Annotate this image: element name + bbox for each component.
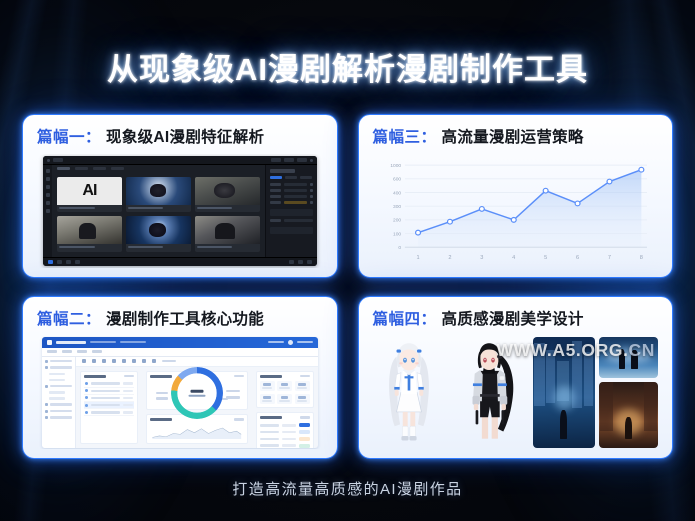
list-item-value bbox=[123, 390, 133, 393]
stat-value bbox=[298, 396, 306, 399]
video-editor-screenshot: AI bbox=[43, 156, 317, 266]
sidebar-item-label bbox=[49, 373, 65, 376]
svg-text:6: 6 bbox=[575, 255, 578, 261]
list-item-label bbox=[91, 404, 120, 407]
editor-toolbar-button bbox=[297, 158, 307, 162]
editor-toolbar-button bbox=[271, 158, 281, 162]
character-white-svg bbox=[373, 337, 445, 449]
list-panel bbox=[80, 371, 138, 445]
character-illustration-black bbox=[451, 337, 527, 449]
thumbnail-image bbox=[195, 216, 260, 244]
stat-label bbox=[279, 400, 289, 402]
properties-tab-strip bbox=[270, 176, 313, 179]
list-item bbox=[84, 388, 134, 395]
sidebar-item bbox=[45, 385, 72, 388]
growth-chart-svg: 1000 600 400 300 200 100 0 bbox=[373, 156, 655, 266]
chart-x-axis-labels: 1 2 3 4 5 6 7 8 bbox=[416, 255, 642, 261]
list-item-selected bbox=[84, 402, 134, 409]
status-badge bbox=[299, 430, 310, 434]
stat-label bbox=[279, 387, 289, 389]
stat-value bbox=[281, 396, 289, 399]
donut-legend-label bbox=[226, 396, 240, 399]
silhouette-figure bbox=[625, 417, 632, 439]
donut-chart bbox=[150, 381, 244, 407]
play-icon bbox=[48, 260, 53, 264]
sidebar-icon bbox=[45, 366, 48, 369]
card-four-header: 篇幅四： 高质感漫剧美学设计 bbox=[371, 307, 661, 329]
media-thumbnail: AI bbox=[57, 177, 122, 212]
panel-title bbox=[84, 375, 106, 378]
card-one-header: 篇幅一： 现象级AI漫剧特征解析 bbox=[35, 125, 325, 147]
stat-cell bbox=[295, 394, 310, 405]
editor-center-pane: AI bbox=[52, 165, 265, 257]
rail-icon-text bbox=[46, 185, 50, 189]
card-chapter-four[interactable]: 篇幅四： 高质感漫剧美学设计 bbox=[358, 296, 674, 460]
property-label bbox=[270, 183, 281, 186]
wall-shape bbox=[644, 382, 657, 431]
svg-text:1: 1 bbox=[416, 255, 419, 261]
search-icon bbox=[142, 359, 146, 363]
card-chapter-one[interactable]: 篇幅一： 现象级AI漫剧特征解析 bbox=[22, 114, 338, 278]
window-dot-icon bbox=[47, 159, 50, 162]
stat-value bbox=[281, 383, 289, 386]
svg-text:400: 400 bbox=[393, 190, 401, 196]
card-three-body: 1000 600 400 300 200 100 0 bbox=[371, 154, 661, 268]
sidebar-item-label bbox=[50, 360, 72, 363]
thumbnail-caption bbox=[195, 205, 260, 213]
panel-header bbox=[260, 375, 310, 378]
sidebar-subitem bbox=[45, 373, 72, 376]
card-two-header: 篇幅二： 漫剧制作工具核心功能 bbox=[35, 307, 325, 329]
card-four-title: 高质感漫剧美学设计 bbox=[442, 307, 584, 329]
footer-caption-container: 打造高流量高质感的AI漫剧作品 bbox=[0, 478, 695, 499]
thumbnail-image bbox=[126, 216, 191, 244]
sidebar-item bbox=[45, 410, 72, 413]
sidebar-item-label bbox=[50, 410, 72, 413]
media-thumbnail bbox=[57, 216, 122, 251]
property-preview-block bbox=[270, 227, 313, 234]
list-item-label bbox=[91, 397, 120, 400]
property-label bbox=[270, 219, 281, 222]
status-badge bbox=[299, 423, 310, 427]
property-value bbox=[284, 183, 307, 186]
panel-header bbox=[84, 375, 134, 378]
stat-label bbox=[262, 387, 272, 389]
editor-tab bbox=[111, 167, 124, 170]
card-one-body: AI bbox=[35, 154, 325, 268]
dashboard-brand-name bbox=[56, 341, 86, 344]
svg-text:200: 200 bbox=[393, 218, 401, 224]
wall-shape bbox=[600, 382, 613, 431]
page-title-container: 从现象级AI漫剧解析漫剧制作工具 bbox=[0, 44, 695, 89]
donut-center-label bbox=[188, 388, 205, 399]
dashboard-content bbox=[76, 357, 318, 449]
rail-icon-media bbox=[46, 169, 50, 173]
rail-icon-transition bbox=[46, 201, 50, 205]
table-cell bbox=[260, 444, 279, 447]
sidebar-item bbox=[45, 360, 72, 363]
silhouette-figure bbox=[631, 350, 638, 369]
trend-sparkline bbox=[150, 424, 244, 440]
stat-value bbox=[298, 383, 306, 386]
split-icon bbox=[75, 260, 80, 264]
dashboard-header-action bbox=[268, 341, 284, 344]
list-item-label bbox=[91, 390, 120, 393]
art-gallery: WWW.A5.ORG.CN bbox=[371, 336, 661, 450]
status-badge bbox=[299, 444, 310, 448]
property-row bbox=[270, 195, 313, 198]
table-cell bbox=[282, 444, 296, 447]
svg-text:7: 7 bbox=[607, 255, 610, 261]
property-value bbox=[284, 201, 307, 204]
svg-text:1000: 1000 bbox=[390, 163, 401, 169]
growth-chart: 1000 600 400 300 200 100 0 bbox=[371, 154, 661, 268]
card-chapter-three[interactable]: 篇幅三： 高流量漫剧运营策略 bbox=[358, 114, 674, 278]
table-row bbox=[260, 429, 310, 436]
stop-icon bbox=[66, 260, 71, 264]
editor-menu-item bbox=[53, 158, 63, 162]
property-toggle-icon bbox=[310, 195, 313, 198]
table-cell bbox=[282, 431, 296, 434]
properties-tab bbox=[270, 176, 282, 179]
sidebar-item-label bbox=[50, 403, 72, 406]
subnav-item bbox=[47, 350, 57, 353]
list-item bbox=[84, 409, 134, 416]
building-shape bbox=[584, 352, 593, 406]
card-one-tag: 篇幅一： bbox=[37, 125, 101, 147]
stat-label bbox=[297, 400, 307, 402]
character-black-svg bbox=[451, 337, 527, 449]
properties-tab bbox=[285, 176, 297, 179]
card-four-tag: 篇幅四： bbox=[373, 307, 437, 329]
toolbar-icon-refresh bbox=[112, 359, 116, 363]
card-three-tag: 篇幅三： bbox=[373, 125, 437, 147]
sidebar-item-label bbox=[50, 385, 72, 388]
properties-panel-title bbox=[270, 169, 296, 173]
toolbar-icon-add bbox=[82, 359, 86, 363]
dashboard-nav-item bbox=[120, 341, 146, 344]
svg-text:0: 0 bbox=[398, 245, 401, 251]
zoom-out-icon bbox=[289, 260, 294, 264]
sidebar-item bbox=[45, 416, 72, 419]
svg-text:5: 5 bbox=[544, 255, 547, 261]
list-bullet-icon bbox=[85, 382, 88, 385]
sidebar-item-label bbox=[49, 397, 65, 400]
dashboard-chart-column bbox=[142, 367, 252, 449]
silhouette-figure bbox=[619, 349, 626, 369]
gallery-image-corridor bbox=[599, 382, 658, 448]
dashboard-body bbox=[42, 357, 318, 449]
subnav-item bbox=[62, 350, 72, 353]
stat-cell bbox=[260, 394, 275, 405]
sidebar-subitem bbox=[45, 391, 72, 394]
sidebar-item-label bbox=[49, 379, 65, 382]
stat-value bbox=[263, 383, 271, 386]
stat-label bbox=[262, 400, 272, 402]
svg-text:4: 4 bbox=[512, 255, 515, 261]
rail-icon-filter bbox=[46, 209, 50, 213]
media-thumbnail bbox=[126, 216, 191, 251]
property-label bbox=[270, 195, 281, 198]
light-halo bbox=[554, 386, 575, 411]
subnav-item bbox=[92, 350, 102, 353]
dashboard-toolbar bbox=[76, 357, 318, 367]
editor-tab bbox=[57, 167, 70, 170]
rail-icon-audio bbox=[46, 177, 50, 181]
sidebar-icon bbox=[45, 410, 48, 413]
table-row bbox=[260, 436, 310, 443]
table-cell bbox=[260, 438, 279, 441]
svg-text:300: 300 bbox=[393, 204, 401, 210]
trend-sparkline-svg bbox=[150, 424, 244, 440]
thumbnail-caption bbox=[126, 244, 191, 252]
list-item-value bbox=[123, 411, 133, 414]
list-bullet-icon bbox=[85, 411, 88, 414]
records-table-panel bbox=[256, 412, 314, 448]
chart-y-axis-labels: 1000 600 400 300 200 100 0 bbox=[390, 163, 401, 251]
donut-legend-label bbox=[226, 390, 240, 393]
table-cell bbox=[282, 424, 296, 427]
table-cell bbox=[282, 438, 296, 441]
sparkline-area bbox=[152, 428, 241, 439]
sidebar-item-label bbox=[50, 416, 72, 419]
dashboard-sidebar bbox=[42, 357, 76, 449]
card-grid: 篇幅一： 现象级AI漫剧特征解析 bbox=[22, 114, 673, 459]
gallery-right-column bbox=[599, 337, 658, 449]
building-shape bbox=[534, 343, 545, 405]
zoom-in-icon bbox=[298, 260, 303, 264]
svg-text:2: 2 bbox=[448, 255, 451, 261]
character-illustration-white bbox=[373, 337, 445, 449]
panel-action bbox=[300, 416, 310, 419]
list-item bbox=[84, 381, 134, 388]
sidebar-item-label bbox=[49, 391, 65, 394]
thumbnail-caption bbox=[195, 244, 260, 252]
stat-cell bbox=[260, 381, 275, 392]
svg-text:100: 100 bbox=[393, 231, 401, 237]
properties-tab bbox=[300, 176, 312, 179]
property-row bbox=[270, 183, 313, 186]
footer-caption: 打造高流量高质感的AI漫剧作品 bbox=[232, 481, 462, 498]
status-badge bbox=[299, 437, 310, 441]
property-row bbox=[270, 219, 313, 222]
card-two-title: 漫剧制作工具核心功能 bbox=[106, 307, 264, 329]
table-row bbox=[260, 422, 310, 429]
sidebar-icon bbox=[45, 385, 48, 388]
list-item-label bbox=[91, 411, 120, 414]
editor-toolbar-button bbox=[284, 158, 294, 162]
toolbar-label bbox=[162, 360, 176, 363]
property-row bbox=[270, 189, 313, 192]
card-one-title: 现象级AI漫剧特征解析 bbox=[106, 125, 264, 147]
media-thumbnail bbox=[195, 216, 260, 251]
pause-icon bbox=[57, 260, 62, 264]
thumbnail-image: AI bbox=[57, 177, 122, 205]
donut-legend-label bbox=[156, 392, 168, 395]
editor-tab bbox=[93, 167, 106, 170]
list-bullet-icon bbox=[85, 396, 88, 399]
donut-center-caption bbox=[188, 395, 205, 398]
media-thumbnail-grid: AI bbox=[52, 173, 265, 257]
table-row bbox=[260, 442, 310, 448]
panel-action bbox=[124, 375, 134, 378]
panel-title bbox=[150, 418, 172, 421]
thumbnail-ai-label: AI bbox=[82, 183, 96, 199]
panel-action bbox=[300, 375, 310, 378]
svg-text:3: 3 bbox=[480, 255, 483, 261]
subnav-item bbox=[77, 350, 87, 353]
gallery-image-two-figures bbox=[599, 337, 658, 379]
editor-properties-panel bbox=[265, 165, 317, 257]
dashboard-columns bbox=[76, 367, 318, 449]
sidebar-subitem bbox=[45, 397, 72, 400]
dashboard-nav-item bbox=[90, 341, 116, 344]
editor-tab-strip bbox=[52, 165, 265, 173]
panel-title bbox=[150, 375, 172, 378]
property-label bbox=[270, 189, 281, 192]
sidebar-icon bbox=[45, 403, 48, 406]
media-thumbnail bbox=[195, 177, 260, 212]
stat-value bbox=[263, 396, 271, 399]
card-chapter-two[interactable]: 篇幅二： 漫剧制作工具核心功能 bbox=[22, 296, 338, 460]
property-row-highlighted bbox=[270, 201, 313, 204]
property-value bbox=[284, 195, 307, 198]
thumbnail-image bbox=[57, 216, 122, 244]
svg-text:8: 8 bbox=[639, 255, 642, 261]
donut-center-value bbox=[190, 390, 203, 394]
sidebar-item bbox=[45, 366, 72, 369]
card-three-title: 高流量漫剧运营策略 bbox=[442, 125, 584, 147]
stat-cell bbox=[277, 394, 292, 405]
thumbnail-caption bbox=[126, 205, 191, 213]
dashboard-header bbox=[42, 337, 318, 348]
editor-statusbar bbox=[43, 257, 317, 266]
stat-label bbox=[297, 387, 307, 389]
property-toggle-icon bbox=[310, 183, 313, 186]
editor-close-icon bbox=[310, 159, 313, 162]
sidebar-icon bbox=[45, 360, 48, 363]
stat-cell bbox=[295, 381, 310, 392]
admin-dashboard-screenshot bbox=[42, 337, 318, 449]
editor-main: AI bbox=[43, 165, 317, 257]
dashboard-list-column bbox=[76, 367, 142, 449]
toolbar-icon-export bbox=[122, 359, 126, 363]
donut-chart-panel bbox=[146, 371, 248, 411]
thumbnail-image bbox=[195, 177, 260, 205]
property-toggle-icon bbox=[310, 201, 313, 204]
sidebar-item bbox=[45, 403, 72, 406]
table-cell bbox=[260, 424, 279, 427]
dashboard-subnav bbox=[42, 348, 318, 357]
property-toggle-icon bbox=[310, 189, 313, 192]
quick-stats-panel bbox=[256, 371, 314, 409]
list-bullet-icon bbox=[85, 404, 88, 407]
stat-cell bbox=[277, 381, 292, 392]
donut-legend-label bbox=[156, 397, 168, 400]
card-two-tag: 篇幅二： bbox=[37, 307, 101, 329]
editor-tab bbox=[75, 167, 88, 170]
sidebar-item-label bbox=[50, 366, 72, 369]
quick-stats-grid bbox=[260, 381, 310, 405]
avatar bbox=[288, 340, 293, 345]
list-item-value bbox=[123, 382, 133, 385]
list-item-value bbox=[123, 404, 133, 407]
light-halo bbox=[605, 349, 652, 363]
toolbar-icon-settings bbox=[152, 359, 156, 363]
dashboard-username bbox=[297, 341, 313, 344]
list-bullet-icon bbox=[85, 389, 88, 392]
thumbnail-caption bbox=[57, 205, 122, 213]
sidebar-icon bbox=[45, 416, 48, 419]
media-thumbnail bbox=[126, 177, 191, 212]
property-preview-block bbox=[270, 209, 313, 216]
editor-titlebar bbox=[43, 156, 317, 165]
toolbar-icon-filter bbox=[132, 359, 136, 363]
table-cell bbox=[260, 431, 279, 434]
panel-title bbox=[260, 375, 282, 378]
list-item bbox=[84, 395, 134, 402]
fullscreen-icon bbox=[307, 260, 312, 264]
panel-action bbox=[234, 418, 244, 421]
property-label bbox=[270, 201, 281, 204]
property-value bbox=[284, 189, 307, 192]
editor-left-rail bbox=[43, 165, 52, 257]
gallery-image-city-street bbox=[533, 337, 595, 449]
card-two-body bbox=[35, 336, 325, 450]
toolbar-icon-delete bbox=[102, 359, 106, 363]
property-value bbox=[284, 219, 313, 222]
svg-text:600: 600 bbox=[393, 177, 401, 183]
list-item-value bbox=[123, 397, 133, 400]
panel-header bbox=[260, 416, 310, 419]
silhouette-figure bbox=[560, 410, 567, 439]
thumbnail-caption bbox=[57, 244, 122, 252]
panel-action bbox=[234, 375, 244, 378]
page-title: 从现象级AI漫剧解析漫剧制作工具 bbox=[107, 44, 588, 89]
dashboard-logo-icon bbox=[47, 340, 52, 345]
rail-icon-effects bbox=[46, 193, 50, 197]
dashboard-stats-column bbox=[252, 367, 318, 449]
sidebar-subitem bbox=[45, 379, 72, 382]
list-item-label bbox=[91, 382, 120, 385]
cityscape-gallery bbox=[533, 337, 659, 449]
card-four-body: WWW.A5.ORG.CN bbox=[371, 336, 661, 450]
thumbnail-image bbox=[126, 177, 191, 205]
toolbar-icon-edit bbox=[92, 359, 96, 363]
card-three-header: 篇幅三： 高流量漫剧运营策略 bbox=[371, 125, 661, 147]
panel-title bbox=[260, 416, 282, 419]
